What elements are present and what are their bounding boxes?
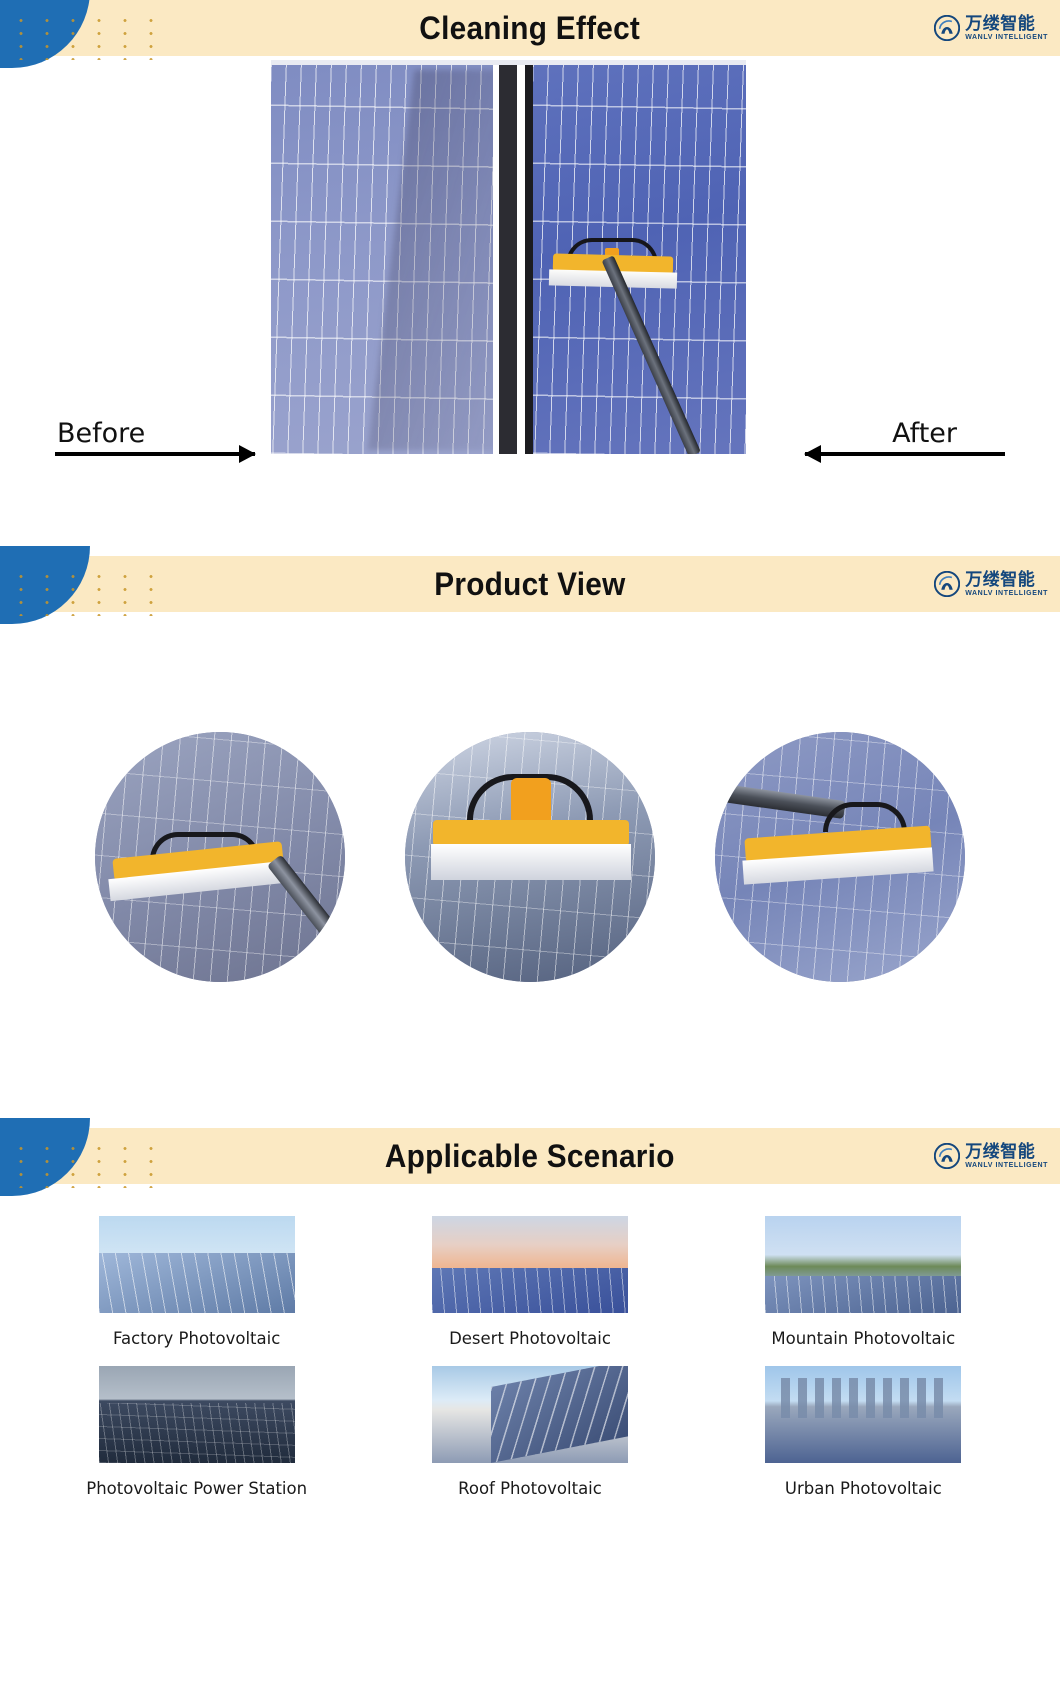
scenario-label: Mountain Photovoltaic bbox=[771, 1329, 955, 1348]
scenario-item: Desert Photovoltaic bbox=[363, 1216, 696, 1348]
scenario-label: Factory Photovoltaic bbox=[113, 1329, 280, 1348]
scenario-item: Mountain Photovoltaic bbox=[697, 1216, 1030, 1348]
scenario-item: Photovoltaic Power Station bbox=[30, 1366, 363, 1498]
brand-name-cn: 万缕智能 bbox=[965, 571, 1048, 588]
logo-swoosh-icon bbox=[934, 1143, 960, 1169]
product-image-1 bbox=[95, 732, 345, 982]
scenario-item: Roof Photovoltaic bbox=[363, 1366, 696, 1498]
scenario-thumbnail bbox=[99, 1216, 295, 1313]
banner-applicable-scenario: Applicable Scenario 万缕智能 WANLV INTELLIGE… bbox=[0, 1128, 1060, 1184]
product-image-row bbox=[0, 732, 1060, 982]
product-image-3 bbox=[715, 732, 965, 982]
page-title-applicable-scenario: Applicable Scenario bbox=[385, 1138, 675, 1175]
brand-logo: 万缕智能 WANLV INTELLIGENT bbox=[934, 571, 1048, 597]
scenario-thumbnail bbox=[765, 1216, 961, 1313]
product-image-2 bbox=[405, 732, 655, 982]
brand-name-cn: 万缕智能 bbox=[965, 15, 1048, 32]
brush-head bbox=[433, 820, 629, 846]
scenario-label: Photovoltaic Power Station bbox=[86, 1479, 307, 1498]
brand-name-en: WANLV INTELLIGENT bbox=[965, 590, 1048, 597]
panel-top-frame bbox=[271, 60, 746, 65]
scenario-thumbnail bbox=[765, 1366, 961, 1463]
banner-cleaning-effect: Cleaning Effect 万缕智能 WANLV INTELLIGENT bbox=[0, 0, 1060, 56]
section-cleaning-effect: Before After bbox=[0, 56, 1060, 508]
before-after-image bbox=[271, 60, 746, 454]
page-title-product-view: Product View bbox=[434, 566, 625, 603]
scenario-label: Desert Photovoltaic bbox=[449, 1329, 611, 1348]
brand-logo: 万缕智能 WANLV INTELLIGENT bbox=[934, 1143, 1048, 1169]
page-title-cleaning-effect: Cleaning Effect bbox=[420, 10, 641, 47]
scenario-label: Roof Photovoltaic bbox=[458, 1479, 602, 1498]
logo-swoosh-icon bbox=[934, 15, 960, 41]
scenario-item: Urban Photovoltaic bbox=[697, 1366, 1030, 1498]
scenario-thumbnail bbox=[432, 1216, 628, 1313]
corner-dot-pattern bbox=[8, 1142, 168, 1188]
banner-product-view: Product View 万缕智能 WANLV INTELLIGENT bbox=[0, 556, 1060, 612]
scenario-thumbnail bbox=[99, 1366, 295, 1463]
brand-logo: 万缕智能 WANLV INTELLIGENT bbox=[934, 15, 1048, 41]
brush-bristles bbox=[431, 844, 631, 880]
comparison-arrows bbox=[0, 448, 1060, 462]
label-before: Before bbox=[57, 418, 145, 449]
label-after: After bbox=[892, 418, 957, 449]
panel-dirty bbox=[271, 60, 493, 454]
brand-name-en: WANLV INTELLIGENT bbox=[965, 1162, 1048, 1169]
section-product-view bbox=[0, 612, 1060, 1072]
arrow-right-icon bbox=[55, 452, 255, 456]
hero-photo bbox=[271, 60, 746, 454]
scenario-label: Urban Photovoltaic bbox=[785, 1479, 942, 1498]
scenario-thumbnail bbox=[432, 1366, 628, 1463]
brand-name-cn: 万缕智能 bbox=[965, 1143, 1048, 1160]
section-applicable-scenario: Factory Photovoltaic Desert Photovoltaic… bbox=[0, 1184, 1060, 1498]
panel-frame-divider bbox=[493, 60, 533, 454]
scenario-item: Factory Photovoltaic bbox=[30, 1216, 363, 1348]
logo-swoosh-icon bbox=[934, 571, 960, 597]
corner-dot-pattern bbox=[8, 570, 168, 616]
nozzle-icon bbox=[511, 778, 551, 826]
corner-dot-pattern bbox=[8, 14, 168, 60]
scenario-grid: Factory Photovoltaic Desert Photovoltaic… bbox=[0, 1184, 1060, 1498]
brand-name-en: WANLV INTELLIGENT bbox=[965, 34, 1048, 41]
arrow-left-icon bbox=[805, 452, 1005, 456]
